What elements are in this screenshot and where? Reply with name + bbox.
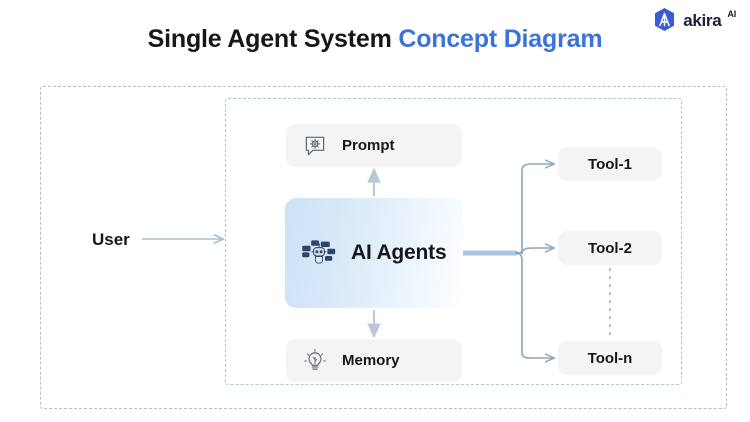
brand-logo: akira AI xyxy=(652,7,736,32)
lightbulb-idea-icon xyxy=(302,348,328,374)
node-tool-2-label: Tool-2 xyxy=(588,240,632,257)
node-tool-n-label: Tool-n xyxy=(588,350,633,367)
page-title-accent: Concept Diagram xyxy=(398,25,602,53)
node-memory[interactable]: Memory xyxy=(286,339,462,382)
brand-name: akira xyxy=(683,12,721,29)
page-title: Single Agent System Concept Diagram xyxy=(0,25,750,54)
akira-hexagon-logo-icon xyxy=(652,7,677,32)
node-prompt[interactable]: Prompt xyxy=(286,124,462,167)
node-ai-agents-label: AI Agents xyxy=(351,241,446,265)
node-prompt-label: Prompt xyxy=(342,137,395,154)
node-tool-2[interactable]: Tool-2 xyxy=(558,231,662,265)
node-tool-1[interactable]: Tool-1 xyxy=(558,147,662,181)
brand-superscript: AI xyxy=(727,9,736,19)
speech-bubble-gear-icon xyxy=(302,133,328,159)
node-ai-agents[interactable]: AI Agents xyxy=(285,198,463,308)
ai-robot-chat-icon xyxy=(301,235,337,271)
diagram-canvas: Single Agent System Concept Diagram akir… xyxy=(0,0,750,422)
node-memory-label: Memory xyxy=(342,352,400,369)
page-title-primary: Single Agent System xyxy=(148,25,392,53)
node-tool-1-label: Tool-1 xyxy=(588,156,632,173)
user-label: User xyxy=(92,230,130,250)
node-tool-n[interactable]: Tool-n xyxy=(558,341,662,375)
